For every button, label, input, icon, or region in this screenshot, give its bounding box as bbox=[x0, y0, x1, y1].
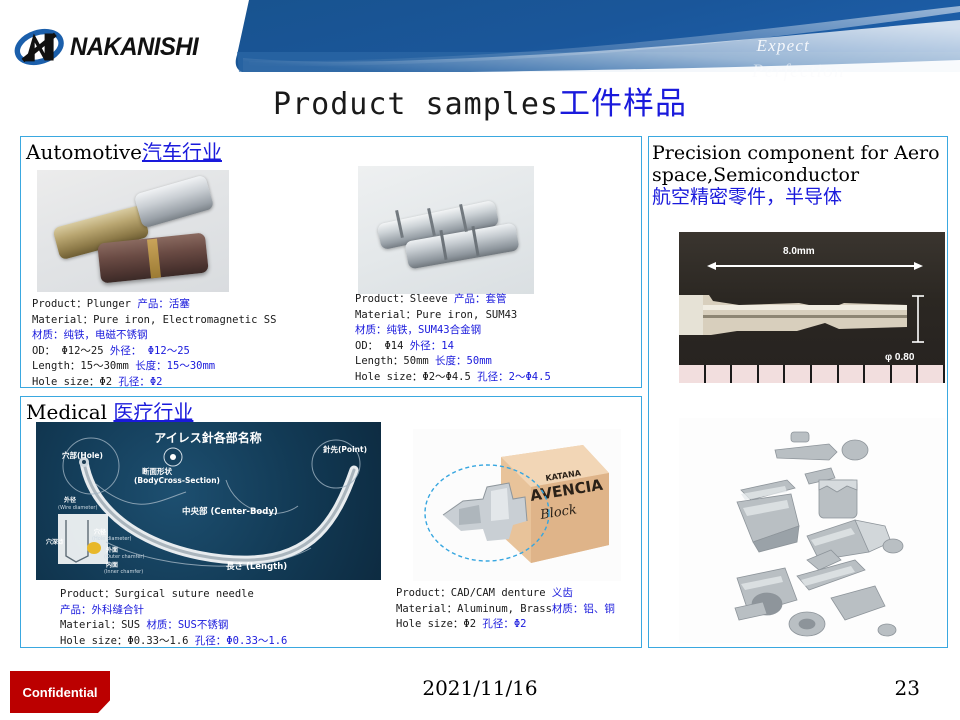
section-header-medical: Medical 医疗行业 bbox=[26, 402, 193, 423]
svg-text:穴径: 穴径 bbox=[94, 528, 106, 536]
svg-text:(Wire diameter): (Wire diameter) bbox=[58, 505, 97, 511]
section-header-medical-cn: 医疗行业 bbox=[113, 400, 193, 424]
footer-page-number: 23 bbox=[895, 676, 920, 700]
spec-sleeve: Product：Sleeve 产品：套管 Material：Pure iron,… bbox=[355, 292, 645, 385]
section-header-automotive: Automotive汽车行业 bbox=[26, 142, 222, 163]
page-title-en: Product samples bbox=[273, 87, 559, 122]
spec-line: Material：Pure iron, SUM43 bbox=[355, 308, 645, 324]
precision-parts-photo bbox=[679, 418, 945, 643]
spec-line: Hole size：Φ2 孔径：Φ2 bbox=[32, 375, 332, 391]
svg-text:穴深さ: 穴深さ bbox=[46, 538, 64, 546]
section-header-automotive-cn: 汽车行业 bbox=[142, 140, 222, 164]
svg-text:(Hole diameter): (Hole diameter) bbox=[92, 536, 131, 542]
micro-measurement-photo: 8.0mm φ 0.80 bbox=[679, 232, 945, 383]
spec-line: Product：Plunger 产品：活塞 bbox=[32, 297, 332, 313]
svg-text:断面形状: 断面形状 bbox=[142, 466, 172, 476]
precision-head-line1: Precision component bbox=[652, 142, 854, 164]
svg-text:針先(Point): 針先(Point) bbox=[323, 444, 367, 454]
precision-head-cn: 航空精密零件，半导体 bbox=[652, 186, 948, 208]
slide-root: NAKANISHI Expect Perfection Product samp… bbox=[0, 0, 960, 720]
micro-length-label: 8.0mm bbox=[783, 246, 815, 257]
micro-length-arrow bbox=[707, 260, 923, 272]
micro-scale-ticks bbox=[679, 365, 945, 383]
spec-line: Material：Aluminum, Brass材质：铝、铜 bbox=[396, 602, 624, 618]
spec-line: Hole size：Φ2 孔径：Φ2 bbox=[396, 617, 646, 633]
nakanishi-logo: NAKANISHI bbox=[14, 26, 230, 68]
micro-part-shape bbox=[679, 287, 945, 347]
plunger-steel bbox=[134, 174, 215, 228]
svg-text:(Outer chamfer): (Outer chamfer) bbox=[104, 554, 144, 560]
spec-line: Length：50mm 长度：50mm bbox=[355, 354, 645, 370]
spec-line: Product：CAD/CAM denture 义齿 bbox=[396, 586, 646, 602]
spec-line: 产品：外科缝合针 bbox=[60, 603, 360, 619]
needle-diagram-graphic: アイレス針各部名称 穴部(Hole) 断面形状 (BodyCross-Secti… bbox=[36, 422, 381, 580]
section-header-precision: Precision component for Aerospace,Semico… bbox=[652, 142, 948, 208]
spec-line: Hole size：Φ0.33〜1.6 孔径：Φ0.33〜1.6 bbox=[60, 634, 360, 650]
spec-line: Product：Surgical suture needle bbox=[60, 587, 360, 603]
spec-line: Hole size：Φ2〜Φ4.5 孔径：2〜Φ4.5 bbox=[355, 370, 613, 386]
svg-text:長さ (Length): 長さ (Length) bbox=[226, 561, 287, 572]
tagline-expect: Expect bbox=[757, 36, 810, 56]
spec-line: Material：Pure iron, Electromagnetic SS bbox=[32, 313, 332, 329]
spec-line: 材质：纯铁，SUM43合金钢 bbox=[355, 323, 645, 339]
precision-head-line4: r bbox=[850, 164, 859, 186]
section-header-medical-en: Medical bbox=[26, 400, 113, 424]
spec-suture-needle: Product：Surgical suture needle 产品：外科缝合针 … bbox=[60, 587, 360, 649]
sleeve-photo bbox=[358, 166, 534, 294]
precision-parts-graphic bbox=[679, 418, 945, 643]
logo-wordmark: NAKANISHI bbox=[70, 35, 198, 60]
section-header-automotive-en: Automotive bbox=[26, 140, 142, 164]
needle-diagram-title: アイレス針各部名称 bbox=[154, 430, 261, 445]
spec-line: OD： Φ12〜25 外径： Φ12〜25 bbox=[32, 344, 332, 360]
spec-cadcam-denture: Product：CAD/CAM denture 义齿 Material：Alum… bbox=[396, 586, 646, 633]
footer-date: 2021/11/16 bbox=[0, 676, 960, 700]
svg-text:(BodyCross-Section): (BodyCross-Section) bbox=[134, 476, 220, 485]
cadcam-denture-photo: KATANA AVENCIA Block bbox=[413, 429, 621, 581]
page-title-cn: 工件样品 bbox=[559, 86, 687, 122]
denture-photo-graphic: KATANA AVENCIA Block bbox=[413, 429, 621, 581]
svg-text:外面: 外面 bbox=[105, 546, 118, 554]
spec-line: OD： Φ14 外径：14 bbox=[355, 339, 645, 355]
plunger-photo bbox=[37, 170, 229, 292]
spec-line: Material：SUS 材质：SUS不锈钢 bbox=[60, 618, 360, 634]
svg-text:(Inner chamfer): (Inner chamfer) bbox=[104, 569, 143, 575]
precision-head-line2: for bbox=[860, 142, 888, 164]
spec-line: 材质：纯铁，电磁不锈钢 bbox=[32, 328, 332, 344]
micro-diameter-arrow bbox=[911, 290, 925, 348]
page-title: Product samples工件样品 bbox=[0, 78, 960, 123]
nakanishi-swoosh-logo-icon bbox=[14, 26, 68, 68]
spec-plunger: Product：Plunger 产品：活塞 Material：Pure iron… bbox=[32, 297, 332, 390]
spec-line: Length：15〜30mm 长度：15〜30mm bbox=[32, 359, 332, 375]
suture-needle-diagram: アイレス針各部名称 穴部(Hole) 断面形状 (BodyCross-Secti… bbox=[36, 422, 381, 580]
svg-text:穴部(Hole): 穴部(Hole) bbox=[62, 450, 103, 460]
spec-line: Product：Sleeve 产品：套管 bbox=[355, 292, 645, 308]
micro-diameter-label: φ 0.80 bbox=[885, 352, 914, 363]
svg-text:内面: 内面 bbox=[106, 561, 118, 569]
svg-text:中央部 (Center-Body): 中央部 (Center-Body) bbox=[182, 506, 278, 517]
svg-text:外径: 外径 bbox=[63, 496, 76, 504]
